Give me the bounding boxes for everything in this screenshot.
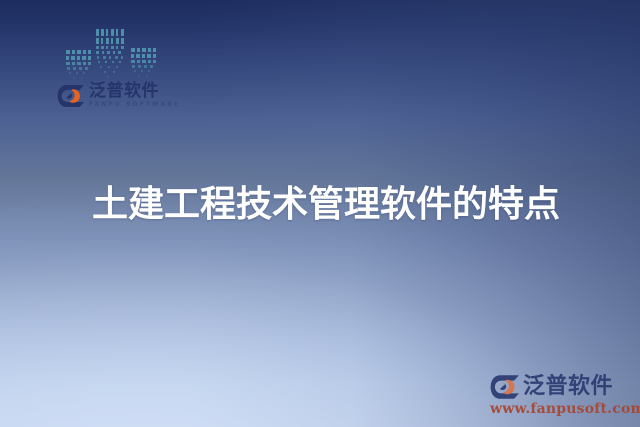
fanpu-watermark-logo-mark-icon bbox=[490, 374, 520, 400]
brand-wordmark: 泛普软件 FANPU SOFTWARE bbox=[89, 83, 180, 108]
brand-logo: 泛普软件 FANPU SOFTWARE bbox=[57, 83, 180, 108]
watermark: 泛普软件 www.fanpusoft.com bbox=[490, 374, 634, 417]
pixel-skyline-icon bbox=[63, 28, 159, 82]
page-title: 土建工程技术管理软件的特点 bbox=[92, 183, 560, 226]
watermark-name-cn: 泛普软件 bbox=[523, 376, 613, 398]
brand-name-en: FANPU SOFTWARE bbox=[89, 102, 180, 108]
watermark-logo-row: 泛普软件 bbox=[490, 374, 634, 400]
slide-canvas: 泛普软件 FANPU SOFTWARE 土建工程技术管理软件的特点 泛普软件 w… bbox=[0, 0, 640, 427]
brand-name-cn: 泛普软件 bbox=[89, 83, 180, 100]
watermark-url: www.fanpusoft.com bbox=[490, 401, 634, 417]
fanpu-logo-mark-icon bbox=[57, 84, 85, 108]
